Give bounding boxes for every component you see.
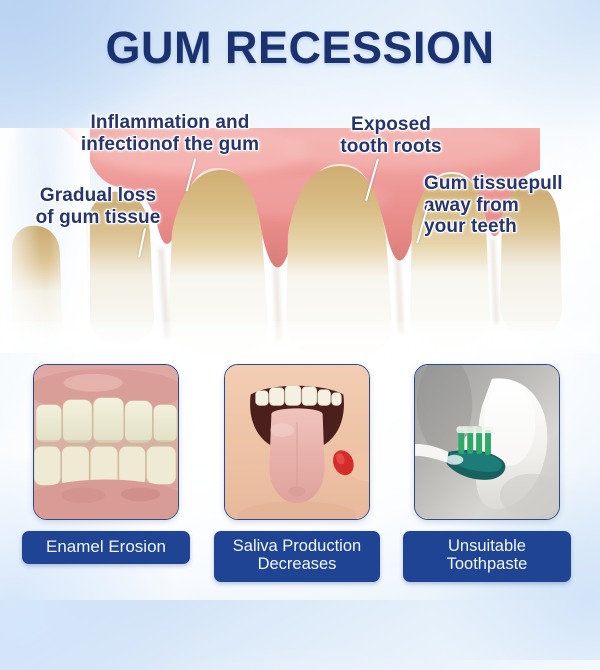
toothbrush-illustration	[415, 365, 559, 519]
open-mouth-illustration	[225, 365, 369, 519]
callout-inflammation-line1: Inflammation and	[64, 112, 276, 134]
callout-gum-pull-line1: Gum tissuepull	[424, 173, 588, 195]
badge-enamel-erosion[interactable]: Enamel Erosion	[22, 531, 190, 564]
card-unsuitable-toothpaste[interactable]: Unsuitable Toothpaste	[414, 364, 560, 582]
callout-exposed-roots: Exposed tooth roots	[330, 114, 452, 157]
badge-toothpaste-line1: Unsuitable	[448, 537, 526, 555]
callout-gum-pull-line3: your teeth	[424, 216, 588, 238]
callout-inflammation: Inflammation and infectionof the gum	[64, 112, 276, 155]
callout-gradual-loss: Gradual loss of gum tissue	[14, 185, 182, 228]
page-title: GUM RECESSION	[0, 24, 600, 71]
gum-diagram-svg	[0, 128, 600, 353]
card-enamel-erosion[interactable]: Enamel Erosion	[33, 364, 179, 564]
callout-gradual-loss-line2: of gum tissue	[14, 207, 182, 229]
callout-gum-pull: Gum tissuepull away from your teeth	[424, 173, 588, 238]
teeth-closeup-photo[interactable]	[33, 364, 179, 520]
cause-cards: Enamel Erosion	[0, 364, 600, 584]
toothbrush-paste-photo[interactable]	[414, 364, 560, 520]
badge-saliva-line2: Decreases	[258, 555, 337, 573]
callout-inflammation-line2: infectionof the gum	[64, 134, 276, 156]
badge-unsuitable-toothpaste[interactable]: Unsuitable Toothpaste	[403, 531, 571, 582]
gum-recession-illustration	[0, 128, 600, 353]
callout-exposed-roots-line1: Exposed	[330, 114, 452, 136]
badge-toothpaste-line2: Toothpaste	[447, 555, 528, 573]
teeth-closeup-illustration	[34, 365, 178, 519]
callout-gum-pull-line2: away from	[424, 195, 588, 217]
callout-exposed-roots-line2: tooth roots	[330, 136, 452, 158]
callout-gradual-loss-line1: Gradual loss	[14, 185, 182, 207]
open-mouth-tongue-photo[interactable]	[224, 364, 370, 520]
badge-saliva-line1: Saliva Production	[233, 537, 361, 555]
card-saliva-production[interactable]: Saliva Production Decreases	[224, 364, 370, 582]
badge-saliva-production[interactable]: Saliva Production Decreases	[214, 531, 380, 582]
